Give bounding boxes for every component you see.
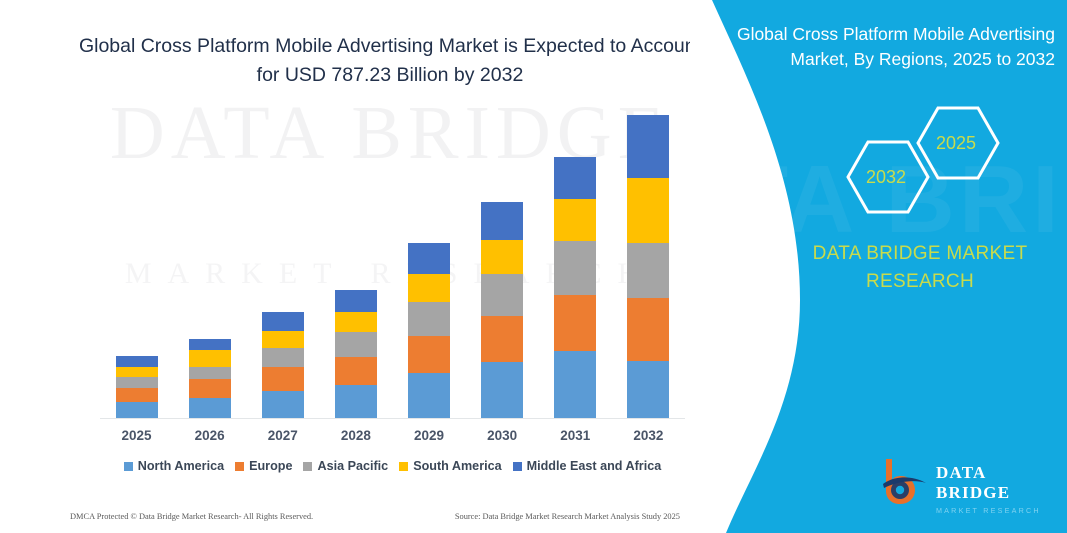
logo-title: DATA BRIDGE <box>936 463 1060 503</box>
bar-segment-north-america <box>627 361 669 418</box>
bar-segment-europe <box>408 336 450 372</box>
bar-segment-asia-pacific <box>335 332 377 357</box>
bar-segment-europe <box>262 367 304 391</box>
data-bridge-logo: DATA BRIDGE MARKET RESEARCH <box>880 455 1060 511</box>
legend-item-middle-east-and-africa[interactable]: Middle East and Africa <box>513 459 662 473</box>
panel-title: Global Cross Platform Mobile Advertising… <box>705 22 1055 72</box>
bar-segment-south-america <box>262 331 304 348</box>
logo-text-block: DATA BRIDGE MARKET RESEARCH <box>936 463 1060 515</box>
bar-segment-north-america <box>554 351 596 418</box>
bar-segment-south-america <box>627 178 669 243</box>
bar-segment-asia-pacific <box>262 348 304 367</box>
bar-column <box>173 100 246 418</box>
bar-segment-north-america <box>262 391 304 418</box>
bar-segment-europe <box>335 357 377 385</box>
logo-subtitle: MARKET RESEARCH <box>936 506 1060 515</box>
bar-segment-europe <box>554 295 596 351</box>
bar-segment-south-america <box>554 199 596 241</box>
bar-segment-asia-pacific <box>408 302 450 336</box>
x-axis-label-2025: 2025 <box>100 428 173 450</box>
legend-label: Europe <box>249 459 292 473</box>
legend-item-europe[interactable]: Europe <box>235 459 292 473</box>
bar-segment-north-america <box>481 362 523 418</box>
bar-segment-middle-east-and-africa <box>627 115 669 179</box>
legend-item-north-america[interactable]: North America <box>124 459 224 473</box>
bar-segment-south-america <box>116 367 158 377</box>
footer-copyright: DMCA Protected © Data Bridge Market Rese… <box>70 512 313 521</box>
stacked-bar-2031 <box>554 157 596 418</box>
x-axis-label-2030: 2030 <box>466 428 539 450</box>
bar-column <box>246 100 319 418</box>
hexagon-2032-label: 2032 <box>866 167 906 188</box>
x-axis-label-2032: 2032 <box>612 428 685 450</box>
bar-segment-europe <box>627 298 669 362</box>
logo-mark-icon <box>880 457 932 507</box>
bar-column <box>612 100 685 418</box>
bar-column <box>539 100 612 418</box>
stacked-bar-2026 <box>189 339 231 418</box>
bar-column <box>100 100 173 418</box>
stacked-bar-2027 <box>262 312 304 418</box>
bar-segment-middle-east-and-africa <box>408 243 450 274</box>
bar-segment-asia-pacific <box>554 241 596 296</box>
bar-segment-middle-east-and-africa <box>189 339 231 350</box>
bar-segment-south-america <box>189 350 231 367</box>
bar-column <box>466 100 539 418</box>
x-axis-label-2029: 2029 <box>393 428 466 450</box>
chart-title: Global Cross Platform Mobile Advertising… <box>70 32 710 91</box>
hexagon-group: 2025 2032 <box>820 100 1060 220</box>
stacked-bar-2028 <box>335 290 377 418</box>
x-axis-label-2027: 2027 <box>246 428 319 450</box>
bar-column <box>393 100 466 418</box>
chart-baseline <box>100 418 685 419</box>
legend-swatch-icon <box>399 462 408 471</box>
chart-legend: North AmericaEuropeAsia PacificSouth Ame… <box>100 456 685 476</box>
bar-segment-south-america <box>481 240 523 274</box>
legend-label: Middle East and Africa <box>527 459 662 473</box>
hexagon-shapes <box>820 100 1060 220</box>
bar-segment-europe <box>189 379 231 397</box>
bar-segment-asia-pacific <box>189 367 231 379</box>
legend-swatch-icon <box>235 462 244 471</box>
bar-segment-middle-east-and-africa <box>554 157 596 199</box>
bar-segment-middle-east-and-africa <box>481 202 523 239</box>
x-axis-label-2028: 2028 <box>319 428 392 450</box>
bar-segment-asia-pacific <box>116 377 158 388</box>
bar-segment-europe <box>116 388 158 402</box>
stacked-bar-series <box>100 100 685 418</box>
legend-item-south-america[interactable]: South America <box>399 459 501 473</box>
bar-segment-north-america <box>335 385 377 418</box>
bar-segment-europe <box>481 316 523 363</box>
bar-segment-north-america <box>189 398 231 418</box>
bar-segment-asia-pacific <box>627 243 669 298</box>
infographic-root: DATA BRIDGE MARKET RESEARCH Global Cross… <box>0 0 1067 533</box>
bar-column <box>319 100 392 418</box>
legend-label: Asia Pacific <box>317 459 388 473</box>
legend-label: North America <box>138 459 224 473</box>
bar-segment-north-america <box>408 373 450 418</box>
bar-segment-middle-east-and-africa <box>335 290 377 313</box>
footer-source: Source: Data Bridge Market Research Mark… <box>455 512 680 521</box>
x-axis-labels: 20252026202720282029203020312032 <box>100 428 685 450</box>
bar-segment-middle-east-and-africa <box>116 356 158 367</box>
stacked-bar-2030 <box>481 202 523 418</box>
footer: DMCA Protected © Data Bridge Market Rese… <box>70 508 690 524</box>
legend-swatch-icon <box>303 462 312 471</box>
panel-brand-text: DATA BRIDGE MARKET RESEARCH <box>780 240 1060 295</box>
legend-item-asia-pacific[interactable]: Asia Pacific <box>303 459 388 473</box>
x-axis-label-2031: 2031 <box>539 428 612 450</box>
bar-segment-asia-pacific <box>481 274 523 316</box>
stacked-bar-2032 <box>627 115 669 418</box>
stacked-bar-2029 <box>408 243 450 418</box>
hexagon-2025-label: 2025 <box>936 133 976 154</box>
legend-label: South America <box>413 459 501 473</box>
bar-segment-north-america <box>116 402 158 418</box>
bar-segment-south-america <box>335 312 377 331</box>
legend-swatch-icon <box>124 462 133 471</box>
bar-segment-middle-east-and-africa <box>262 312 304 330</box>
legend-swatch-icon <box>513 462 522 471</box>
stacked-bar-2025 <box>116 356 158 418</box>
x-axis-label-2026: 2026 <box>173 428 246 450</box>
bar-segment-south-america <box>408 274 450 302</box>
